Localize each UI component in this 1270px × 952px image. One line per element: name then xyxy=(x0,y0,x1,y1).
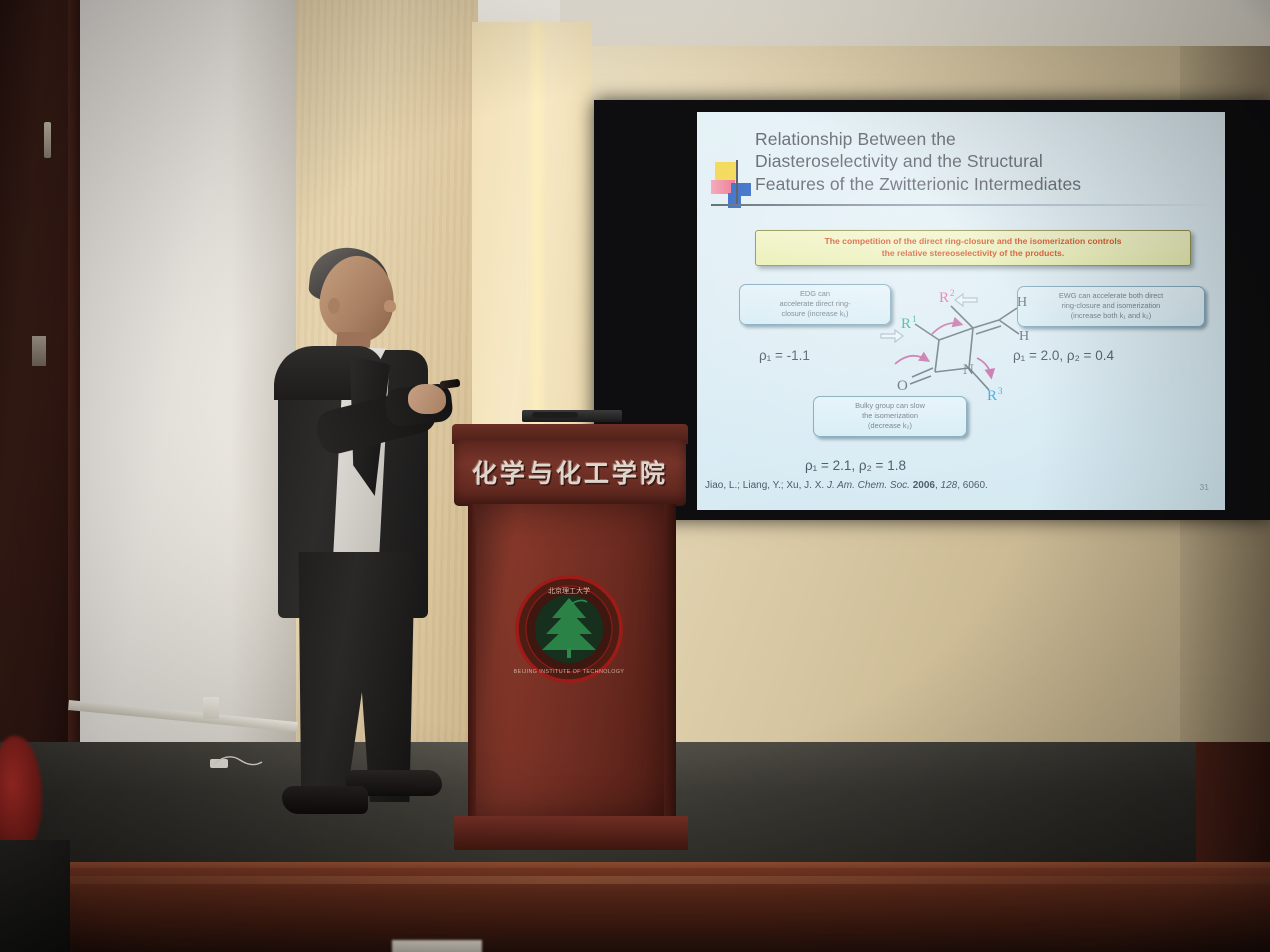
door[interactable] xyxy=(0,0,76,742)
highlight-callout: The competition of the direct ring-closu… xyxy=(755,230,1191,266)
svg-text:R: R xyxy=(901,316,911,332)
foreground-paper xyxy=(392,940,482,952)
speaker-shoe-left xyxy=(282,786,368,814)
door-frame xyxy=(68,0,80,748)
callout-bulky-line-3: (decrease k₂) xyxy=(819,421,961,431)
svg-text:N: N xyxy=(963,362,974,378)
citation-journal: J. Am. Chem. Soc. xyxy=(827,480,910,491)
presentation-remote[interactable] xyxy=(440,379,461,390)
podium-sign: 化学与化工学院 xyxy=(464,446,676,498)
speaker xyxy=(258,246,468,836)
slide-title-line-2: Diasteroselectivity and the Structural xyxy=(755,150,1215,172)
callout-ewg-line-3: (increase both k₁ and k₂) xyxy=(1023,311,1199,321)
highlight-line-1: The competition of the direct ring-closu… xyxy=(762,236,1184,248)
projected-slide: Relationship Between the Diasteroselecti… xyxy=(697,112,1225,510)
foreground-rail-highlight xyxy=(0,876,1270,884)
foreground-left-dark xyxy=(0,840,70,952)
highlight-line-2: the relative stereoselectivity of the pr… xyxy=(762,248,1184,260)
citation-volume: 128 xyxy=(941,480,958,491)
citation-year: 2006 xyxy=(913,480,935,491)
slide-decoration-logo xyxy=(711,160,757,210)
svg-text:H: H xyxy=(1017,295,1027,310)
svg-text:H: H xyxy=(1019,329,1029,344)
callout-edg-line-2: accelerate direct ring- xyxy=(745,299,885,309)
emblem-english-name: BEIJING INSTITUTE OF TECHNOLOGY xyxy=(514,669,624,675)
slide-title-line-3: Features of the Zwitterionic Intermediat… xyxy=(755,173,1215,195)
microphone-base xyxy=(532,412,578,418)
rho-value-edg: ρ₁ = -1.1 xyxy=(759,348,810,363)
slide-citation: Jiao, L.; Liang, Y.; Xu, J. X. J. Am. Ch… xyxy=(705,480,988,491)
rho-value-bulky: ρ₁ = 2.1, ρ₂ = 1.8 xyxy=(805,458,906,473)
emblem-chinese-name: 北京理工大学 xyxy=(548,586,590,595)
citation-authors: Jiao, L.; Liang, Y.; Xu, J. X. xyxy=(705,480,824,491)
slide-number: 31 xyxy=(1200,482,1209,492)
callout-ewg: EWG can accelerate both direct ring-clos… xyxy=(1017,286,1205,327)
door-handle[interactable] xyxy=(44,122,51,158)
power-cable xyxy=(212,752,264,774)
university-emblem: 北京理工大学 BEIJING INSTITUTE OF TECHNOLOGY xyxy=(514,574,624,684)
svg-text:3: 3 xyxy=(998,386,1003,396)
lecture-photo-scene: Relationship Between the Diasteroselecti… xyxy=(0,0,1270,952)
callout-edg-line-1: EDG can xyxy=(745,289,885,299)
callout-ewg-line-2: ring-closure and isomerization xyxy=(1023,301,1199,311)
citation-page: 6060. xyxy=(963,480,988,491)
chemical-structure-diagram: R 1 R 2 R 3 H H O N xyxy=(877,272,1037,412)
speaker-ear xyxy=(328,298,340,314)
svg-text:R: R xyxy=(939,290,949,306)
podium: 化学与化工学院 北京理工大学 BEIJING INSTITUTE OF TECH… xyxy=(452,424,688,848)
svg-text:1: 1 xyxy=(912,314,917,324)
right-foreground-post xyxy=(1196,742,1270,882)
svg-text:2: 2 xyxy=(950,288,955,298)
callout-ewg-line-1: EWG can accelerate both direct xyxy=(1023,291,1199,301)
slide-title: Relationship Between the Diasteroselecti… xyxy=(755,128,1215,195)
door-plate xyxy=(32,336,46,366)
podium-base xyxy=(454,816,688,850)
podium-right-edge xyxy=(664,504,676,822)
callout-bulky-line-2: the isomerization xyxy=(819,411,961,421)
podium-sign-text: 化学与化工学院 xyxy=(472,454,668,490)
callout-edg: EDG can accelerate direct ring- closure … xyxy=(739,284,891,325)
slide-title-line-1: Relationship Between the xyxy=(755,128,1215,150)
svg-text:R: R xyxy=(987,388,997,404)
callout-edg-line-3: closure (increase k₁) xyxy=(745,309,885,319)
speaker-nose xyxy=(384,300,396,312)
speaker-hand xyxy=(408,384,446,414)
svg-text:O: O xyxy=(897,378,908,394)
wall-outlet xyxy=(203,697,219,719)
speaker-trousers xyxy=(288,552,420,802)
